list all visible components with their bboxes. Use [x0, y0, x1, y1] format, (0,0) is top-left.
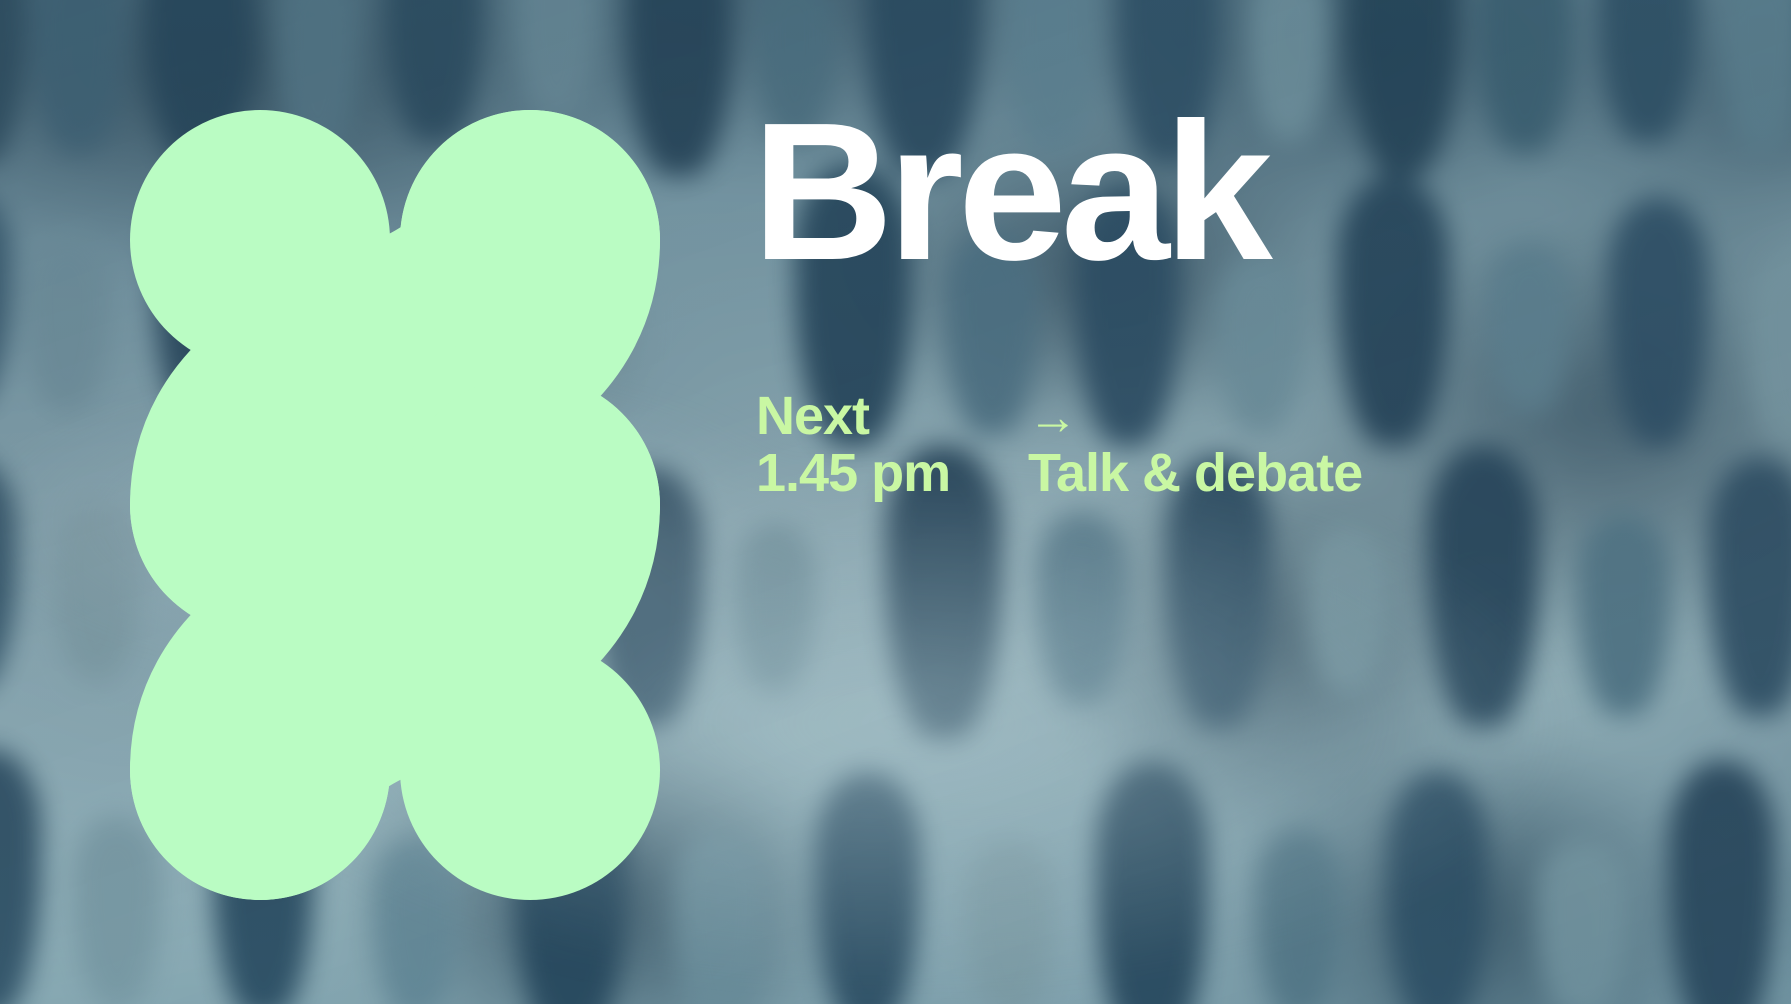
next-session-block: Next → 1.45 pm Talk & debate	[756, 388, 1362, 502]
slide-content: Break Next → 1.45 pm Talk & debate	[752, 0, 1752, 1004]
next-session-header-row: Next →	[756, 388, 1362, 445]
next-label: Next	[756, 388, 1028, 445]
arrow-right-icon: →	[1028, 391, 1077, 444]
brand-logo	[130, 100, 660, 910]
page-title: Break	[752, 98, 1267, 286]
next-session-time: 1.45 pm	[756, 445, 1028, 502]
slide-root: Break Next → 1.45 pm Talk & debate	[0, 0, 1791, 1004]
next-session-title: Talk & debate	[1028, 445, 1362, 502]
next-session-detail-row: 1.45 pm Talk & debate	[756, 445, 1362, 502]
